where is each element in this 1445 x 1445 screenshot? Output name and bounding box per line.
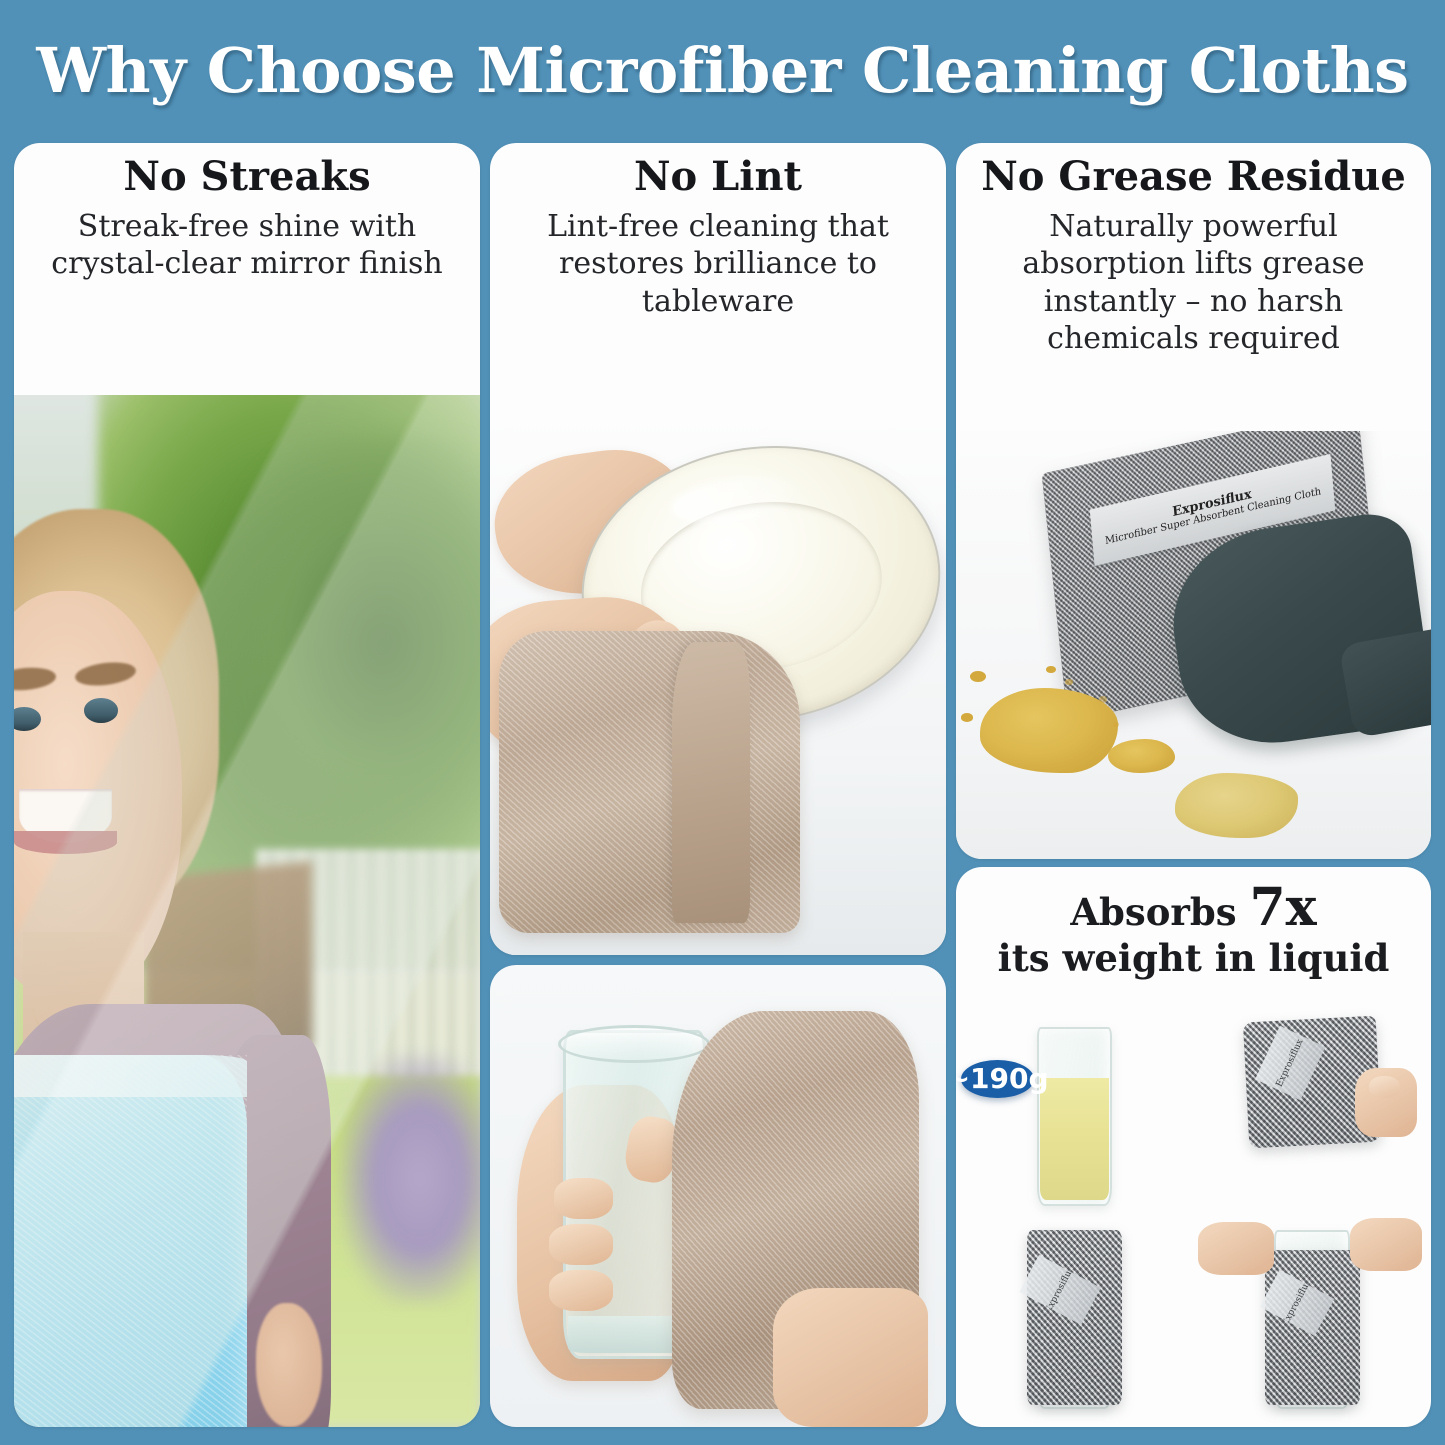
grease-droplet-5 (1099, 696, 1108, 702)
fingernail (1369, 1076, 1400, 1098)
photo-woman-with-cloth (14, 395, 480, 1427)
photo-wiping-grease: Exprosiflux Microfiber Super Absorbent C… (956, 431, 1431, 859)
woman-lower-lip (14, 831, 117, 855)
card-no-lint-title: No Lint (504, 155, 932, 200)
mesh-cloth-label-2: Exprosiflux (1019, 1255, 1100, 1325)
left-hand-fingers (1198, 1222, 1274, 1275)
lavender-bush (340, 1055, 480, 1303)
card-no-grease-head: No Grease Residue Naturally powerful abs… (956, 143, 1431, 364)
infographic-root: Why Choose Microfiber Cleaning Cloths No… (0, 0, 1445, 1445)
card-no-lint: No Lint Lint-free cleaning that restores… (490, 143, 946, 955)
glass-tube-with-liquid (1037, 1027, 1112, 1206)
card-no-streaks-body: Streak-free shine with crystal-clear mir… (28, 208, 466, 283)
grease-puddle-large (980, 688, 1118, 774)
card-no-grease-residue: No Grease Residue Naturally powerful abs… (956, 143, 1431, 859)
blue-cloth-edge (14, 1055, 247, 1096)
weight-badge: ~190g (961, 1060, 1035, 1099)
mesh-cloth-inserted: Exprosiflux (1027, 1230, 1122, 1405)
photo-polishing-glass (490, 965, 946, 1427)
page-title: Why Choose Microfiber Cleaning Cloths (0, 34, 1445, 107)
card-no-grease-body: Naturally powerful absorption lifts grea… (970, 208, 1417, 358)
card-no-streaks: No Streaks Streak-free shine with crysta… (14, 143, 480, 1427)
absorbs-prefix: Absorbs (1070, 890, 1249, 934)
card-no-streaks-title: No Streaks (28, 155, 466, 200)
card-absorbs-7x: Absorbs 7x its weight in liquid ~190g Ex… (956, 867, 1431, 1427)
card-no-streaks-head: No Streaks Streak-free shine with crysta… (14, 143, 480, 289)
card-no-lint-head: No Lint Lint-free cleaning that restores… (490, 143, 946, 326)
grease-puddle-small (1108, 739, 1175, 773)
grease-droplet-3 (1046, 666, 1056, 673)
absorbency-demo-grid: ~190g Exprosiflux Exprosiflux (956, 1015, 1431, 1421)
absorbs-line-1: Absorbs 7x (966, 881, 1421, 936)
grease-droplet-4 (1065, 679, 1073, 685)
garden-scene (14, 395, 480, 1427)
yellow-liquid (1040, 1078, 1109, 1200)
demo-cell-cloth-in-tube: Exprosiflux (956, 1218, 1194, 1421)
beige-microfiber-towel (499, 631, 800, 933)
photo-drying-plate (490, 415, 946, 955)
card-glass-photo (490, 965, 946, 1427)
grease-puddle-right (1175, 773, 1299, 837)
absorbs-multiplier: 7x (1249, 877, 1316, 938)
demo-cell-liquid-tube: ~190g (956, 1015, 1194, 1218)
mesh-cloth-label: Exprosiflux (1255, 1026, 1325, 1100)
hand-behind-cloth (773, 1288, 928, 1427)
mesh-cloth-label-3: Exprosiflux (1260, 1270, 1334, 1336)
grease-droplet-6 (1113, 722, 1120, 727)
right-hand-fingers (1350, 1218, 1421, 1271)
blue-microfiber-cloth (14, 1055, 247, 1427)
finger-1 (554, 1178, 613, 1220)
absorbs-line-2: its weight in liquid (966, 938, 1421, 979)
glove-cuff (1338, 628, 1431, 739)
card-absorbs-head: Absorbs 7x its weight in liquid (956, 867, 1431, 982)
tree-foliage-dark (219, 436, 480, 849)
finger-3 (549, 1270, 613, 1312)
card-no-lint-body: Lint-free cleaning that restores brillia… (504, 208, 932, 321)
demo-cell-cloth-soaked: Exprosiflux (1194, 1218, 1432, 1421)
demo-cell-folded-cloth: Exprosiflux (1194, 1015, 1432, 1218)
woman-hand (256, 1303, 321, 1427)
towel-fold (672, 642, 750, 923)
mesh-cloth-soaked: Exprosiflux (1265, 1250, 1360, 1404)
card-no-grease-title: No Grease Residue (970, 155, 1417, 200)
grease-droplet-2 (961, 713, 973, 722)
finger-2 (549, 1224, 613, 1266)
grease-droplet-1 (970, 671, 986, 682)
